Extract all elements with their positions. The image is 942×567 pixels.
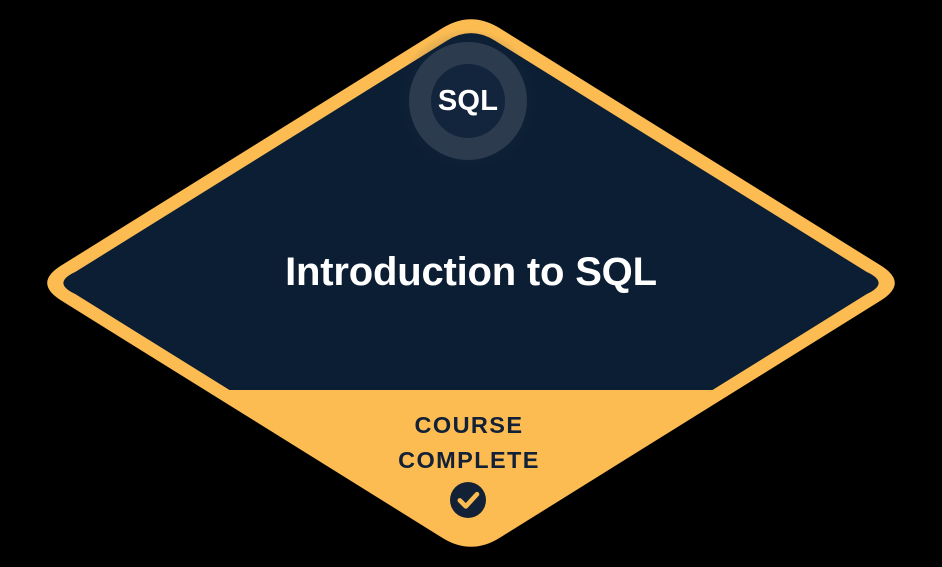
check-circle-background	[450, 482, 486, 518]
course-title: Introduction to SQL	[285, 250, 657, 294]
status-line-course: COURSE	[415, 412, 524, 438]
course-badge-graphic[interactable]: SQL Introduction to SQL COURSE COMPLETE	[0, 0, 942, 567]
check-circle-icon	[450, 482, 486, 518]
badge-stage: SQL Introduction to SQL COURSE COMPLETE	[0, 0, 942, 567]
status-line-complete: COMPLETE	[398, 447, 540, 473]
sql-emblem: SQL	[396, 29, 540, 173]
sql-abbreviation-label: SQL	[438, 85, 498, 117]
